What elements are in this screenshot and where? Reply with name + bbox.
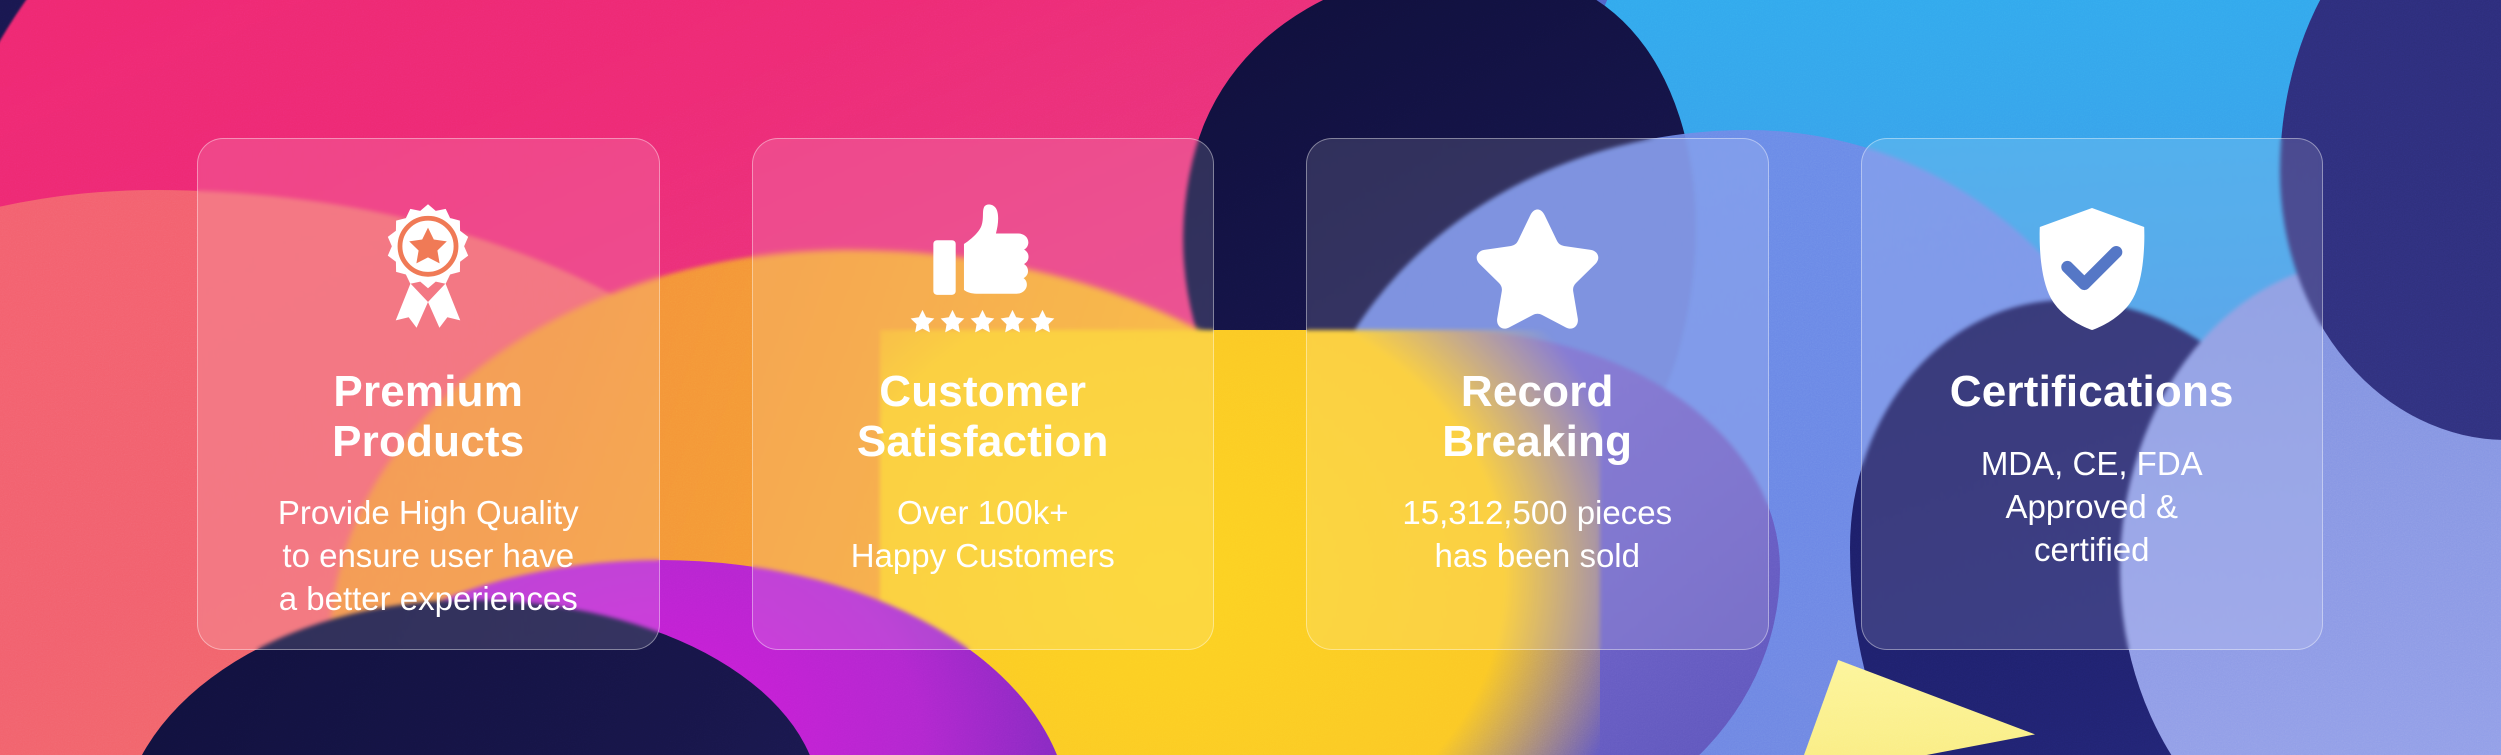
feature-card-description: 15,312,500 pieces has been sold xyxy=(1402,492,1672,578)
feature-card-title: Premium Products xyxy=(332,367,524,466)
card-icon-wrapper xyxy=(1469,201,1605,333)
rating-star-icon xyxy=(910,309,935,333)
feature-card-title: Certifications xyxy=(1950,367,2234,417)
feature-card-description: Provide High Quality to ensure user have… xyxy=(278,492,579,621)
five-stars-icon xyxy=(910,309,1055,333)
feature-card-list: Premium Products Provide High Quality to… xyxy=(197,138,2323,650)
card-icon-wrapper xyxy=(2034,201,2150,333)
thumbs-up-icon xyxy=(927,203,1039,299)
feature-card-title: Customer Satisfaction xyxy=(857,367,1109,466)
feature-card-premium-products[interactable]: Premium Products Provide High Quality to… xyxy=(197,138,660,650)
rating-star-icon xyxy=(1030,309,1055,333)
star-icon xyxy=(1469,205,1605,333)
rating-star-icon xyxy=(940,309,965,333)
award-badge-icon xyxy=(369,201,487,331)
feature-card-certifications[interactable]: Certifications MDA, CE, FDA Approved & c… xyxy=(1861,138,2324,650)
card-icon-wrapper xyxy=(910,201,1055,333)
shield-check-icon xyxy=(2034,205,2150,333)
card-icon-wrapper xyxy=(369,201,487,333)
feature-highlights-banner: Premium Products Provide High Quality to… xyxy=(0,0,2501,755)
feature-card-title: Record Breaking xyxy=(1442,367,1632,466)
feature-card-customer-satisfaction[interactable]: Customer Satisfaction Over 100k+ Happy C… xyxy=(752,138,1215,650)
feature-card-description: Over 100k+ Happy Customers xyxy=(851,492,1115,578)
feature-card-description: MDA, CE, FDA Approved & certified xyxy=(1981,443,2203,572)
rating-star-icon xyxy=(1000,309,1025,333)
rating-star-icon xyxy=(970,309,995,333)
feature-card-record-breaking[interactable]: Record Breaking 15,312,500 pieces has be… xyxy=(1306,138,1769,650)
